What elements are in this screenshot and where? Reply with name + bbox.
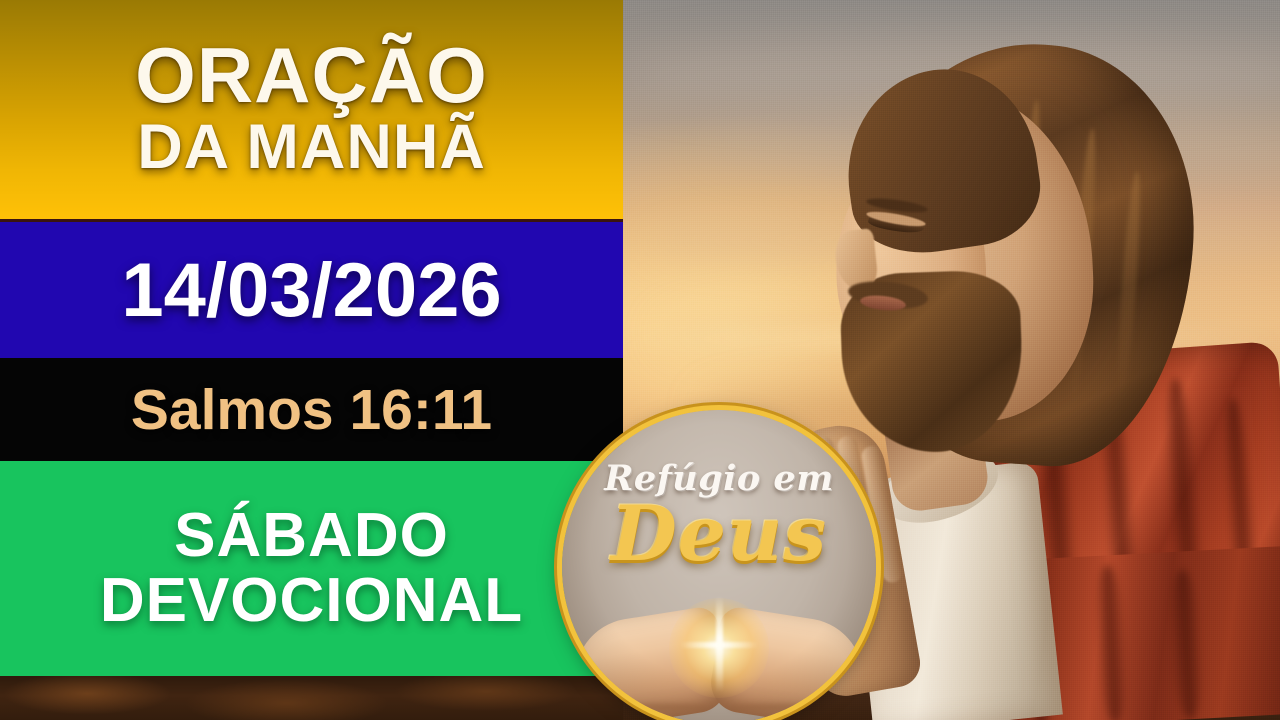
band-day: SÁBADO DEVOCIONAL [0,461,623,676]
verse-reference: Salmos 16:11 [131,377,492,443]
band-date: 14/03/2026 [0,219,623,358]
title-line2: DA MANHÃ [137,113,486,181]
day-line2: DEVOCIONAL [100,569,523,633]
title-line1: ORAÇÃO [135,38,488,113]
devotional-thumbnail: ORAÇÃO DA MANHÃ 14/03/2026 Salmos 16:11 … [0,0,1280,720]
logo-script-main: Deus [562,496,876,572]
band-verse: Salmos 16:11 [0,358,623,461]
cupped-hands-icon [572,584,866,720]
bottom-texture-strip [0,676,623,720]
text-bands-panel: ORAÇÃO DA MANHÃ 14/03/2026 Salmos 16:11 … [0,0,623,676]
band-title: ORAÇÃO DA MANHÃ [0,0,623,219]
day-line1: SÁBADO [174,504,449,568]
brand-logo-badge[interactable]: Refúgio em Deus [562,410,876,720]
date-text: 14/03/2026 [121,247,501,334]
